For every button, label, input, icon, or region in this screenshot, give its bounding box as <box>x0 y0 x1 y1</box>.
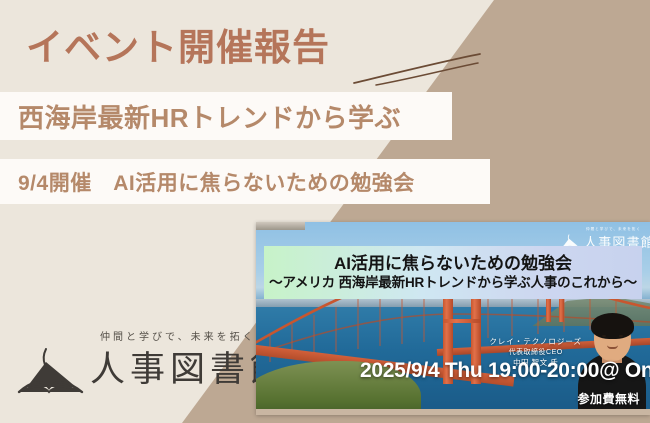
portrait-hair <box>591 313 634 339</box>
subtitle-text: 西海岸最新HRトレンドから学ぶ <box>18 98 401 135</box>
event-title-overlay: AI活用に焦らないための勉強会 〜アメリカ 西海岸最新HRトレンドから学ぶ人事の… <box>264 246 642 299</box>
portrait-eye-left <box>602 335 606 337</box>
organization-logo: 仲間と学びで、未来を拓く 人事図書館 <box>14 328 264 402</box>
page-title: イベント開催報告 <box>26 28 330 69</box>
event-title: AI活用に焦らないための勉強会 <box>334 253 572 274</box>
detail-band: 9/4開催 AI活用に焦らないための勉強会 <box>0 159 490 204</box>
speaker-role: 代表取締役CEO <box>489 348 582 358</box>
detail-text: 9/4開催 AI活用に焦らないための勉強会 <box>18 167 415 197</box>
speaker-company: クレイ・テクノロジーズ <box>489 337 582 348</box>
event-subtitle: 〜アメリカ 西海岸最新HRトレンドから学ぶ人事のこれから〜 <box>269 274 637 292</box>
event-datetime: 2025/9/4 Thu 19:00-20:00@ Online <box>360 359 650 383</box>
event-fee-badge: 参加費無料 <box>577 390 640 407</box>
jinji-toshokan-roof-book-icon <box>16 346 90 398</box>
card-bottom-strip <box>256 409 650 415</box>
bridge-tower-main-crossbeam-mid <box>443 319 481 324</box>
event-flyer-card[interactable]: 仲間と学びで、未来を拓く 人事図書館 AI活用に焦らないための勉強会 〜アメリカ… <box>256 222 650 415</box>
portrait-eye-right <box>619 335 623 337</box>
subtitle-band: 西海岸最新HRトレンドから学ぶ <box>0 92 452 140</box>
